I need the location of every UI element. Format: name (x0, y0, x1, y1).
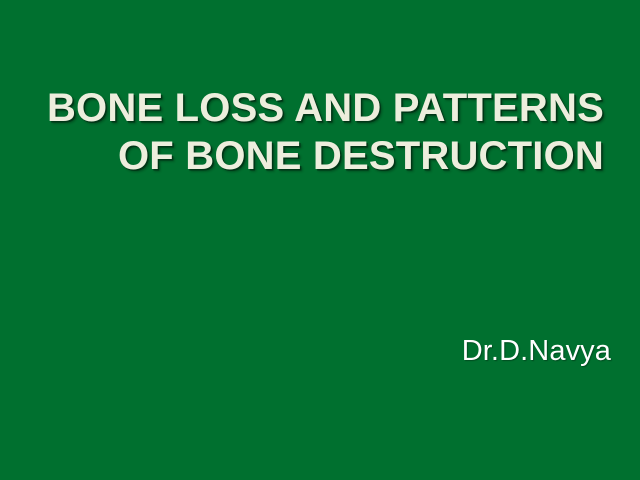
title-line-2: OF BONE DESTRUCTION (0, 132, 604, 180)
title-line-1: BONE LOSS AND PATTERNS (0, 84, 604, 132)
slide-author: Dr.D.Navya (0, 334, 611, 368)
author-name: Dr.D.Navya (462, 334, 611, 368)
presentation-slide: BONE LOSS AND PATTERNS OF BONE DESTRUCTI… (0, 0, 640, 480)
slide-title: BONE LOSS AND PATTERNS OF BONE DESTRUCTI… (0, 84, 604, 180)
